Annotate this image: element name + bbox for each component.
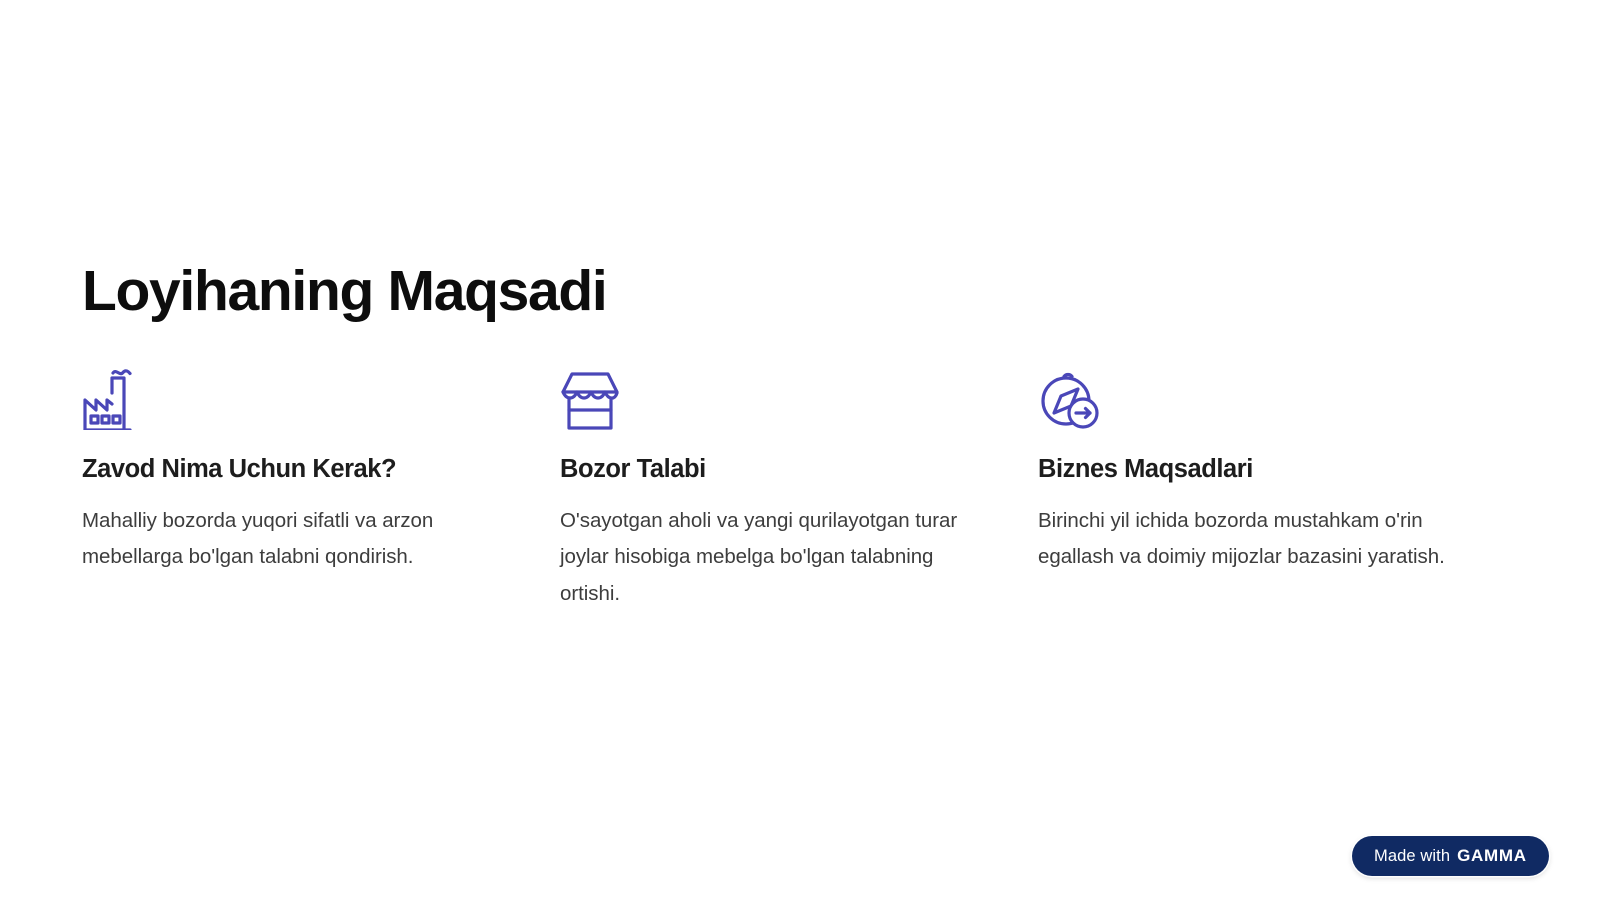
slide-canvas: Loyihaning Maqsadi Zavod Nima Uchun Kera… (0, 0, 1600, 901)
feature-heading: Biznes Maqsadlari (1038, 454, 1454, 486)
page-title: Loyihaning Maqsadi (82, 258, 606, 325)
badge-prefix-label: Made with (1374, 847, 1450, 866)
made-with-gamma-badge[interactable]: Made with GAMMA (1352, 836, 1549, 876)
feature-body: Mahalliy bozorda yuqori sifatli va arzon… (82, 503, 498, 576)
feature-column: Zavod Nima Uchun Kerak? Mahalliy bozorda… (82, 368, 560, 612)
factory-icon (82, 368, 498, 432)
feature-column: Biznes Maqsadlari Birinchi yil ichida bo… (1038, 368, 1516, 612)
compass-arrow-icon (1038, 368, 1454, 432)
feature-heading: Bozor Talabi (560, 454, 976, 486)
feature-column: Bozor Talabi O'sayotgan aholi va yangi q… (560, 368, 1038, 612)
feature-body: Birinchi yil ichida bozorda mustahkam o'… (1038, 503, 1454, 576)
storefront-icon (560, 368, 976, 432)
gamma-brand-label: GAMMA (1457, 846, 1527, 866)
feature-heading: Zavod Nima Uchun Kerak? (82, 454, 498, 486)
feature-body: O'sayotgan aholi va yangi qurilayotgan t… (560, 503, 976, 612)
feature-columns: Zavod Nima Uchun Kerak? Mahalliy bozorda… (82, 368, 1518, 612)
